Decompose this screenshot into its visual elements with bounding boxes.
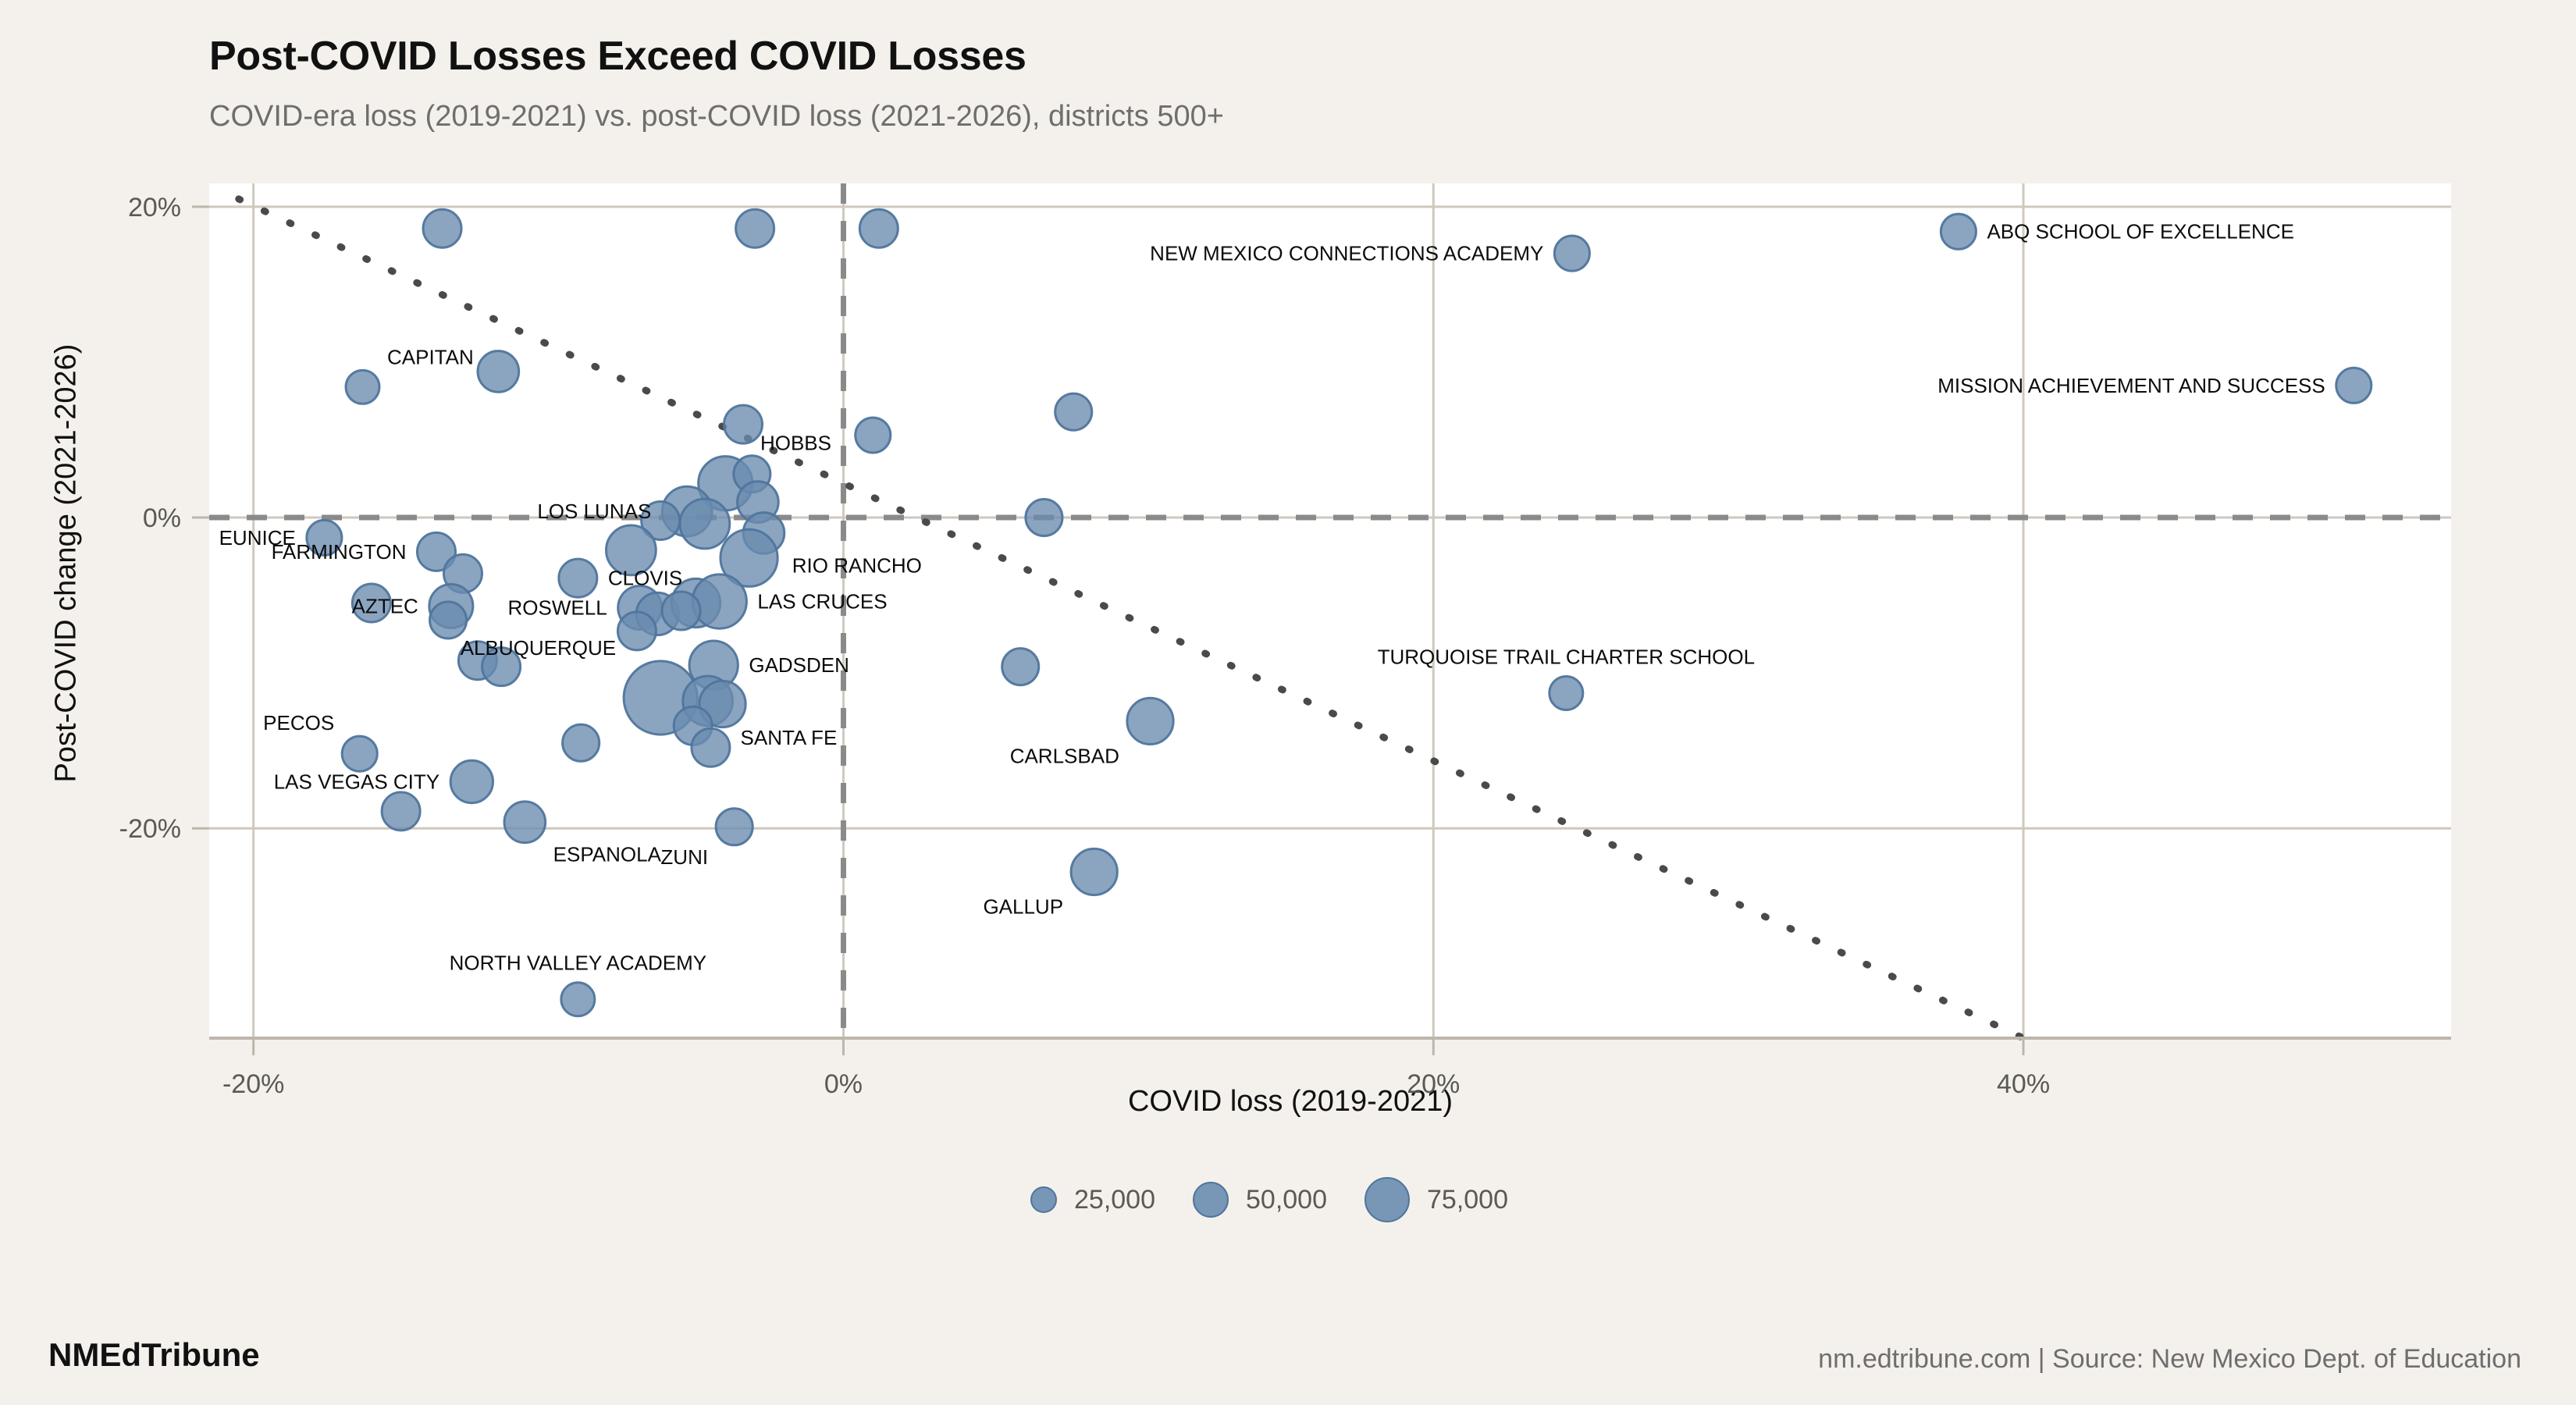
data-point <box>1002 649 1039 685</box>
data-point <box>504 802 546 843</box>
legend-bubble <box>1030 1186 1057 1213</box>
data-point <box>430 602 467 638</box>
point-label: NORTH VALLEY ACADEMY <box>450 951 706 975</box>
point-label: ESPANOLA <box>553 843 662 866</box>
point-label: ABQ SCHOOL OF EXCELLENCE <box>1987 220 2293 244</box>
point-label: HOBBS <box>760 432 831 455</box>
point-label: LAS CRUCES <box>757 590 887 614</box>
data-point <box>692 574 746 628</box>
data-point <box>617 612 656 650</box>
size-legend: 25,00050,00075,000 <box>0 1177 2576 1222</box>
x-tick-label: 40% <box>1997 1069 2050 1099</box>
point-label: ALBUQUERQUE <box>461 636 616 660</box>
data-point <box>856 418 891 453</box>
point-label: SANTA FE <box>741 726 838 749</box>
point-label: PECOS <box>263 711 334 735</box>
data-point <box>2336 368 2371 403</box>
source-credit: nm.edtribune.com | Source: New Mexico De… <box>1818 1344 2521 1375</box>
legend-bubble <box>1364 1177 1410 1222</box>
data-point <box>423 209 461 247</box>
data-point <box>692 728 730 767</box>
data-point <box>1026 499 1062 535</box>
data-point <box>1127 698 1173 744</box>
point-label: LAS VEGAS CITY <box>274 770 439 794</box>
data-point <box>680 499 730 549</box>
legend-item: 50,000 <box>1193 1182 1364 1218</box>
data-point <box>1941 214 1976 249</box>
point-label: LOS LUNAS <box>537 500 651 523</box>
data-point <box>382 792 420 831</box>
data-point <box>1554 236 1589 271</box>
data-point <box>346 370 379 404</box>
data-point <box>559 559 597 597</box>
data-point <box>716 809 753 845</box>
legend-label: 25,000 <box>1074 1185 1155 1215</box>
brand-logo: NMEdTribune <box>48 1336 260 1374</box>
data-point <box>1071 848 1117 895</box>
point-label: GALLUP <box>983 895 1063 919</box>
point-label: MISSION ACHIEVEMENT AND SUCCESS <box>1937 374 2325 397</box>
point-label: RIO RANCHO <box>792 553 922 577</box>
point-label: TURQUOISE TRAIL CHARTER SCHOOL <box>1378 646 1756 669</box>
point-label: AZTEC <box>352 595 418 618</box>
legend-item: 25,000 <box>1030 1185 1193 1215</box>
point-label: ROSWELL <box>508 596 607 620</box>
legend-item: 75,000 <box>1364 1177 1546 1222</box>
data-point <box>859 209 898 247</box>
data-point <box>561 983 595 1016</box>
y-tick-label: 20% <box>128 193 181 222</box>
legend-label: 50,000 <box>1246 1185 1327 1215</box>
data-point <box>662 592 700 630</box>
data-point <box>1055 393 1092 430</box>
legend-label: 75,000 <box>1427 1185 1508 1215</box>
data-point <box>1550 677 1583 710</box>
data-point <box>724 405 762 443</box>
data-point <box>478 351 519 393</box>
data-point <box>563 724 600 761</box>
point-label: ZUNI <box>660 845 708 869</box>
point-label: CARLSBAD <box>1010 744 1119 767</box>
x-tick-label: -20% <box>222 1069 284 1099</box>
data-point <box>450 760 493 802</box>
y-tick-label: 0% <box>143 503 181 533</box>
legend-bubble <box>1193 1182 1229 1218</box>
data-point <box>736 209 774 247</box>
x-tick-label: 20% <box>1407 1069 1460 1099</box>
point-label: CAPITAN <box>387 345 474 368</box>
point-label: CLOVIS <box>608 567 682 590</box>
point-label: FARMINGTON <box>272 540 407 564</box>
y-tick-label: -20% <box>119 814 181 844</box>
data-point <box>342 736 377 771</box>
point-label: NEW MEXICO CONNECTIONS ACADEMY <box>1150 242 1543 265</box>
point-label: GADSDEN <box>749 653 849 677</box>
x-tick-label: 0% <box>824 1069 863 1099</box>
